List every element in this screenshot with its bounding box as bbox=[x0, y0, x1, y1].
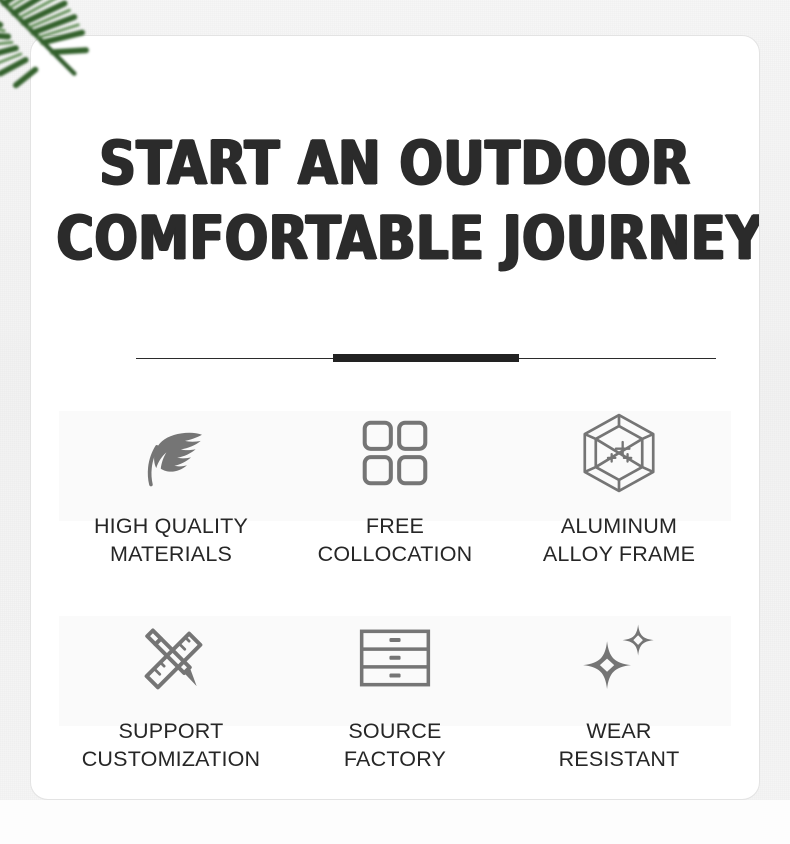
feature-label: SOURCE FACTORY bbox=[344, 718, 446, 773]
feature-label: FREE COLLOCATION bbox=[318, 513, 473, 568]
headline-line-2: COMFORTABLE JOURNEY bbox=[56, 209, 733, 268]
feature-row: HIGH QUALITY MATERIALS FREE COLLOCATION bbox=[59, 401, 731, 568]
leaf-icon bbox=[132, 401, 210, 505]
section-divider bbox=[136, 354, 716, 363]
feature-label: SUPPORT CUSTOMIZATION bbox=[82, 718, 261, 773]
headline-line-1: START AN OUTDOOR bbox=[56, 134, 733, 193]
four-squares-icon bbox=[357, 401, 433, 505]
ruler-pencil-icon bbox=[131, 606, 211, 710]
feature-item-high-quality-materials: HIGH QUALITY MATERIALS bbox=[59, 401, 283, 568]
divider-thick-rule bbox=[333, 354, 519, 362]
feature-item-source-factory: SOURCE FACTORY bbox=[283, 606, 507, 773]
page-title: START AN OUTDOOR COMFORTABLE JOURNEY bbox=[56, 134, 733, 268]
feature-row: SUPPORT CUSTOMIZATION bbox=[59, 606, 731, 773]
feature-item-aluminum-alloy-frame: ALUMINUM ALLOY FRAME bbox=[507, 401, 731, 568]
sparkles-icon bbox=[576, 606, 662, 710]
feature-card: START AN OUTDOOR COMFORTABLE JOURNEY HIG… bbox=[30, 35, 760, 800]
feature-label: HIGH QUALITY MATERIALS bbox=[94, 513, 248, 568]
feature-grid: HIGH QUALITY MATERIALS FREE COLLOCATION bbox=[59, 401, 731, 773]
page-backdrop-footer bbox=[0, 800, 790, 844]
feature-item-support-customization: SUPPORT CUSTOMIZATION bbox=[59, 606, 283, 773]
feature-label: WEAR RESISTANT bbox=[559, 718, 680, 773]
feature-label: ALUMINUM ALLOY FRAME bbox=[543, 513, 695, 568]
hexagon-gem-icon bbox=[575, 401, 663, 505]
drawer-cabinet-icon bbox=[355, 606, 435, 710]
feature-item-wear-resistant: WEAR RESISTANT bbox=[507, 606, 731, 773]
feature-item-free-collocation: FREE COLLOCATION bbox=[283, 401, 507, 568]
